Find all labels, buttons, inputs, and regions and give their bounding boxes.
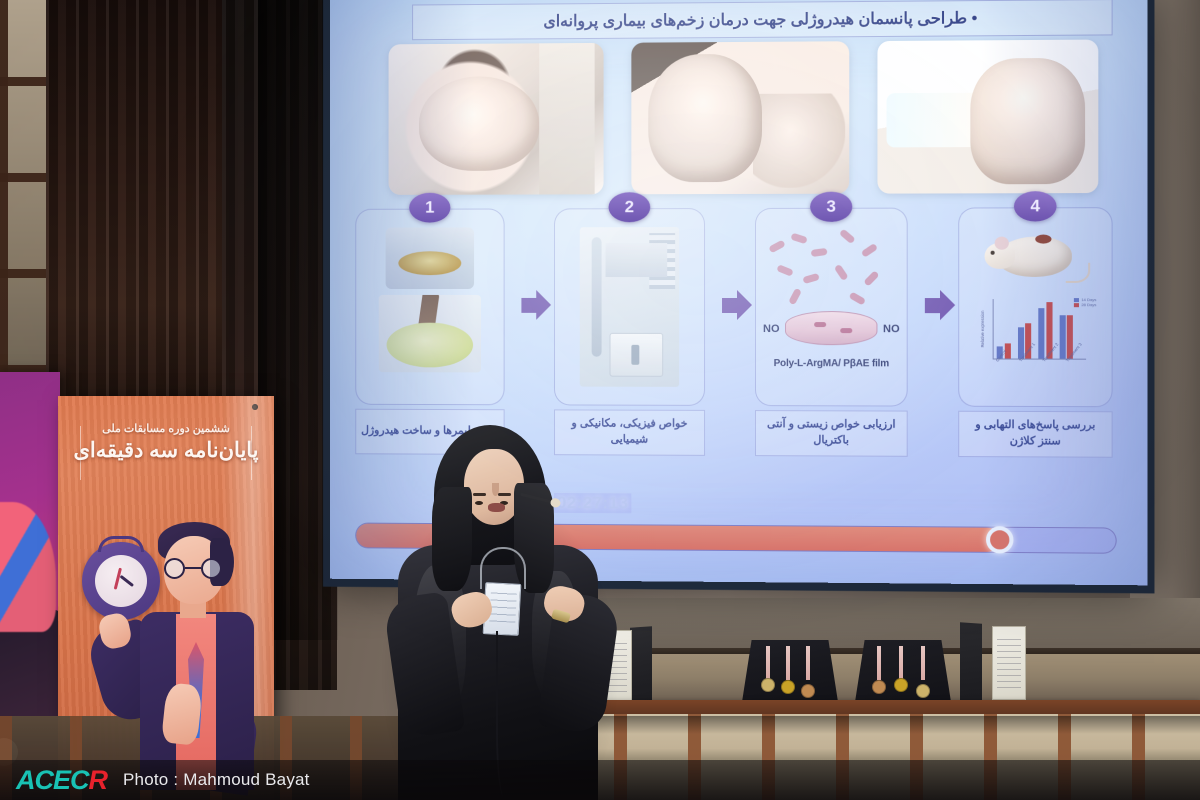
child-patient-photo-2: [631, 41, 849, 194]
step-4-caption-text: بررسی پاسخ‌های التهابی و سنتز کلاژن: [963, 418, 1107, 451]
chart-y-axis-label: Relative expression: [976, 301, 988, 357]
certificate-folder: [980, 626, 1034, 700]
acecr-logo: ACEC R: [16, 765, 107, 796]
step-2-card: [554, 208, 705, 406]
step-4-caption-box: بررسی پاسخ‌های التهابی و سنتز کلاژن: [958, 411, 1112, 458]
step-3-caption-text: ارزیابی خواص زیستی و آنتی باکتریال: [760, 417, 903, 450]
process-step-3: 3: [755, 206, 908, 457]
chart-y-axis: [993, 299, 994, 359]
banner-line-2: پایان‌نامه سه دقیقه‌ای: [58, 438, 274, 463]
step-3-card: NO NO Poly-L-ArgMA/ PβAE film: [755, 208, 908, 407]
process-step-4: 4 Relative expression ControlTreatment 1…: [958, 205, 1112, 458]
gel-pouring-image: [379, 295, 481, 372]
petri-film-label: Poly-L-ArgMA/ PβAE film: [763, 358, 900, 369]
step-number-badge: 3: [810, 192, 852, 222]
presenter: [392, 425, 608, 800]
banner-text-block: ششمین دوره مسابقات ملی پایان‌نامه سه دقی…: [58, 422, 274, 463]
flow-arrow-icon: [908, 205, 959, 404]
process-step-1: 1 سنتز پلیمرها و ساخت هیدروژل: [355, 207, 504, 455]
flow-arrow-icon: [505, 206, 554, 403]
slide-bar-chart: Relative expression ControlTreatment 1Tr…: [976, 291, 1094, 376]
photograph-scene: • طراحی پانسمان هیدروژلی جهت درمان زخم‌ه…: [0, 0, 1200, 800]
watermark-bar: ACEC R Photo : Mahmoud Bayat: [0, 760, 1200, 800]
child-patient-photo-1: [389, 43, 604, 195]
no-label-right: NO: [883, 323, 900, 335]
lab-mouse-icon: [983, 226, 1089, 285]
acecr-logo-part1: ACEC: [16, 765, 89, 796]
banner-line-1: ششمین دوره مسابقات ملی: [58, 422, 274, 435]
clock-icon: [82, 542, 160, 620]
chart-legend: 14 Days28 Days: [1074, 297, 1096, 307]
step-number-badge: 4: [1014, 191, 1057, 221]
chart-bar: [1038, 308, 1044, 359]
chart-legend-swatch: [1074, 303, 1079, 307]
slide-photo-row: [359, 39, 1129, 195]
slide-title: • طراحی پانسمان هیدروژلی جهت درمان زخم‌ه…: [543, 8, 977, 31]
no-label-left: NO: [763, 323, 780, 335]
step-number-badge: 1: [409, 193, 450, 223]
child-patient-photo-3: [877, 40, 1098, 194]
orange-roll-up-banner: ششمین دوره مسابقات ملی پایان‌نامه سه دقی…: [58, 396, 274, 800]
flow-arrow-icon: [705, 206, 755, 404]
step-4-card: Relative expression ControlTreatment 1Tr…: [958, 207, 1112, 407]
acecr-logo-part2: R: [89, 765, 108, 796]
chart-x-tick-labels: ControlTreatment 1Treatment 2Treatment 3: [995, 360, 1095, 378]
medal-display-stand: [855, 640, 951, 702]
medal-display-stand: [742, 640, 838, 702]
process-step-2: 2 خواص فیزیکی، مکانیکی و شیمیایی: [554, 206, 705, 456]
eyeglasses-icon: [164, 558, 222, 580]
step-1-card: [355, 209, 504, 406]
timer-progress-thumb[interactable]: [986, 526, 1013, 553]
beaker-image: [386, 227, 474, 289]
lab-apparatus-image: [580, 227, 679, 387]
chart-legend-label: 28 Days: [1081, 302, 1096, 307]
petri-dish-icon: [785, 311, 877, 345]
step-number-badge: 2: [609, 192, 651, 222]
slide-title-box: • طراحی پانسمان هیدروژلی جهت درمان زخم‌ه…: [412, 0, 1113, 40]
chart-legend-swatch: [1074, 298, 1079, 302]
chart-legend-item: 28 Days: [1074, 302, 1096, 307]
bacteria-petri-image: NO NO Poly-L-ArgMA/ PβAE film: [763, 227, 900, 378]
step-3-caption-box: ارزیابی خواص زیستی و آنتی باکتریال: [755, 410, 908, 457]
photo-credit: Photo : Mahmoud Bayat: [123, 770, 310, 790]
banner-character-illustration: [68, 514, 264, 790]
process-flow-diagram: 1 سنتز پلیمرها و ساخت هیدروژل 2: [355, 205, 1127, 458]
